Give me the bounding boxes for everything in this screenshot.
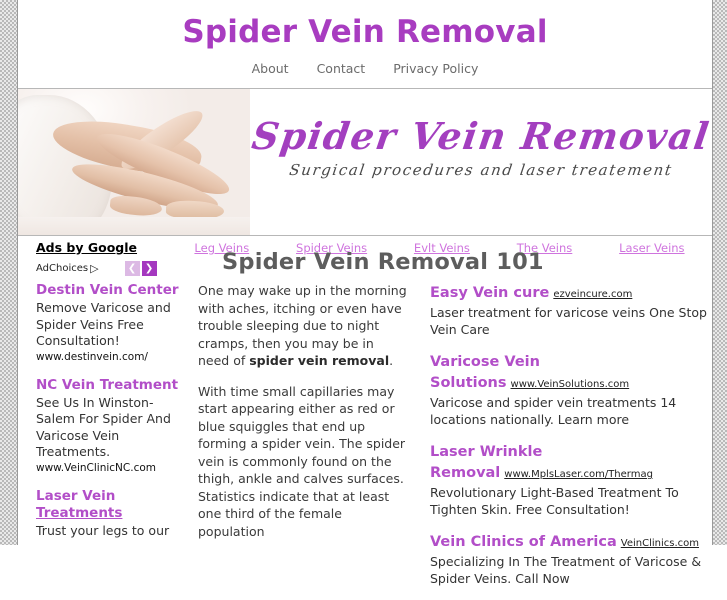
- right-ad-title[interactable]: Vein Clinics of America: [430, 534, 617, 550]
- right-ad-title[interactable]: Easy Vein cure: [430, 285, 549, 301]
- woman-legs-photo: [18, 89, 250, 235]
- sidebar-ad-title-line1: Laser Vein: [36, 488, 115, 504]
- article-paragraph-2: With time small capillaries may start ap…: [198, 383, 408, 541]
- hero-banner: Spider Vein Removal Surgical procedures …: [18, 88, 712, 236]
- paragraph-bold-phrase: spider vein removal: [249, 353, 389, 368]
- sidebar-ad-description: See Us In Winston-Salem For Spider And V…: [36, 395, 188, 461]
- page-content: Spider Vein Removal About Contact Privac…: [18, 0, 712, 545]
- paragraph-text-tail: .: [389, 353, 393, 368]
- right-ad-description: Specializing In The Treatment of Varicos…: [430, 553, 710, 587]
- top-navigation: About Contact Privacy Policy: [18, 61, 712, 76]
- left-decorative-strip: [0, 0, 18, 545]
- hero-tagline: Surgical procedures and laser treatement: [249, 161, 712, 179]
- right-ad-description: Varicose and spider vein treatments 14 l…: [430, 394, 710, 428]
- right-ad-title-row: Easy Vein cureezveincure.com: [430, 282, 710, 303]
- right-ad-easy-vein-cure: Easy Vein cureezveincure.com Laser treat…: [430, 282, 710, 338]
- ads-next-button[interactable]: ❯: [142, 261, 157, 276]
- triangle-right-icon: ▷: [90, 263, 98, 274]
- ad-link-laser-veins[interactable]: Laser Veins: [619, 241, 684, 255]
- right-ad-title-row: Laser Wrinkle Removalwww.MplsLaser.com/T…: [430, 441, 710, 483]
- ads-prev-button[interactable]: ❮: [125, 261, 140, 276]
- ads-pager: ❮ ❯: [125, 261, 157, 276]
- right-column-ads: Easy Vein cureezveincure.com Laser treat…: [430, 282, 710, 600]
- adchoices-button[interactable]: AdChoices ▷: [36, 263, 99, 274]
- hero-script-title: Spider Vein Removal: [247, 115, 712, 157]
- sidebar-ad-laser-vein-treatments: Laser Vein Treatments Trust your legs to…: [36, 488, 188, 540]
- right-ad-description: Revolutionary Light-Based Treatment To T…: [430, 484, 710, 518]
- nav-item-privacy-policy[interactable]: Privacy Policy: [393, 61, 478, 76]
- page-title: Spider Vein Removal 101: [222, 249, 544, 275]
- sidebar-ad-nc-vein-treatment: NC Vein Treatment See Us In Winston-Sale…: [36, 377, 188, 474]
- sidebar-ad-destin-vein-center: Destin Vein Center Remove Varicose and S…: [36, 282, 188, 363]
- right-decorative-strip: [712, 0, 727, 545]
- paragraph-text: With time small capillaries may start ap…: [198, 384, 405, 539]
- article-body: One may wake up in the morning with ache…: [198, 282, 408, 600]
- left-sidebar-ads: Destin Vein Center Remove Varicose and S…: [36, 282, 188, 600]
- sidebar-ad-title[interactable]: Laser Vein Treatments: [36, 488, 188, 522]
- right-ad-domain[interactable]: VeinClinics.com: [621, 538, 699, 549]
- sidebar-ad-title-line2: Treatments: [36, 505, 122, 521]
- right-ad-domain[interactable]: www.MplsLaser.com/Thermag: [504, 469, 653, 480]
- ads-by-google-label[interactable]: Ads by Google: [36, 240, 137, 255]
- sidebar-ad-title[interactable]: Destin Vein Center: [36, 282, 188, 299]
- sidebar-ad-url: www.VeinClinicNC.com: [36, 462, 188, 474]
- nav-item-contact[interactable]: Contact: [317, 61, 366, 76]
- adchoices-label: AdChoices: [36, 263, 88, 274]
- sidebar-ad-title[interactable]: NC Vein Treatment: [36, 377, 188, 394]
- right-ad-domain[interactable]: www.VeinSolutions.com: [511, 379, 630, 390]
- sidebar-ad-description: Remove Varicose and Spider Veins Free Co…: [36, 300, 188, 350]
- sidebar-ad-description: Trust your legs to our: [36, 523, 188, 540]
- nav-item-about[interactable]: About: [252, 61, 289, 76]
- right-ad-title-row: Vein Clinics of AmericaVeinClinics.com: [430, 531, 710, 552]
- article-paragraph-1: One may wake up in the morning with ache…: [198, 282, 408, 370]
- page-root: Spider Vein Removal About Contact Privac…: [0, 0, 727, 545]
- site-title: Spider Vein Removal: [18, 14, 712, 50]
- main-columns: Spider Vein Removal 101 Destin Vein Cent…: [18, 282, 712, 600]
- right-ad-varicose-vein-solutions: Varicose Vein Solutionswww.VeinSolutions…: [430, 351, 710, 428]
- right-ad-laser-wrinkle-removal: Laser Wrinkle Removalwww.MplsLaser.com/T…: [430, 441, 710, 518]
- right-ad-title-row: Varicose Vein Solutionswww.VeinSolutions…: [430, 351, 710, 393]
- masthead: Spider Vein Removal About Contact Privac…: [18, 0, 712, 76]
- right-ad-description: Laser treatment for varicose veins One S…: [430, 304, 710, 338]
- sidebar-ad-url: www.destinvein.com/: [36, 351, 188, 363]
- hero-text-block: Spider Vein Removal Surgical procedures …: [250, 89, 712, 235]
- right-ad-vein-clinics-of-america: Vein Clinics of AmericaVeinClinics.com S…: [430, 531, 710, 587]
- right-ad-domain[interactable]: ezveincure.com: [553, 289, 632, 300]
